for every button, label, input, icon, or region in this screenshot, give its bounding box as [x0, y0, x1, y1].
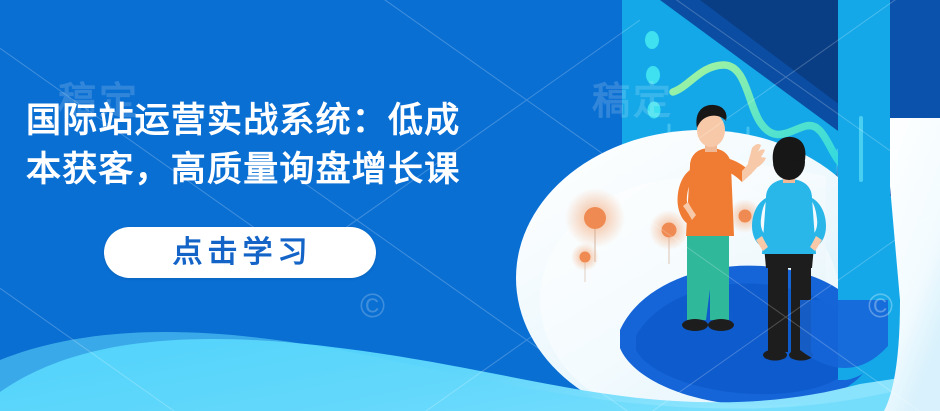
presenter-leg-left	[687, 230, 706, 320]
course-banner: 稿定 稿定 © © 国际站运营实战系统：低成 本获客，高质量询盘增长课 点击学习	[0, 0, 940, 411]
title-line-2: 本获客，高质量询盘增长课	[26, 145, 626, 194]
cta-button[interactable]: 点击学习	[104, 227, 376, 278]
headline-block: 国际站运营实战系统：低成 本获客，高质量询盘增长课	[26, 96, 626, 194]
illustration-layer	[0, 0, 940, 411]
cta-button-label: 点击学习	[168, 238, 313, 268]
observer-shoe-left	[763, 350, 787, 361]
observer-leg-left	[768, 258, 788, 352]
title-line-1: 国际站运营实战系统：低成	[26, 96, 626, 145]
presenter-shoe-left	[682, 319, 708, 331]
observer-shirt	[762, 179, 816, 254]
presenter-shoe-right	[708, 319, 734, 331]
